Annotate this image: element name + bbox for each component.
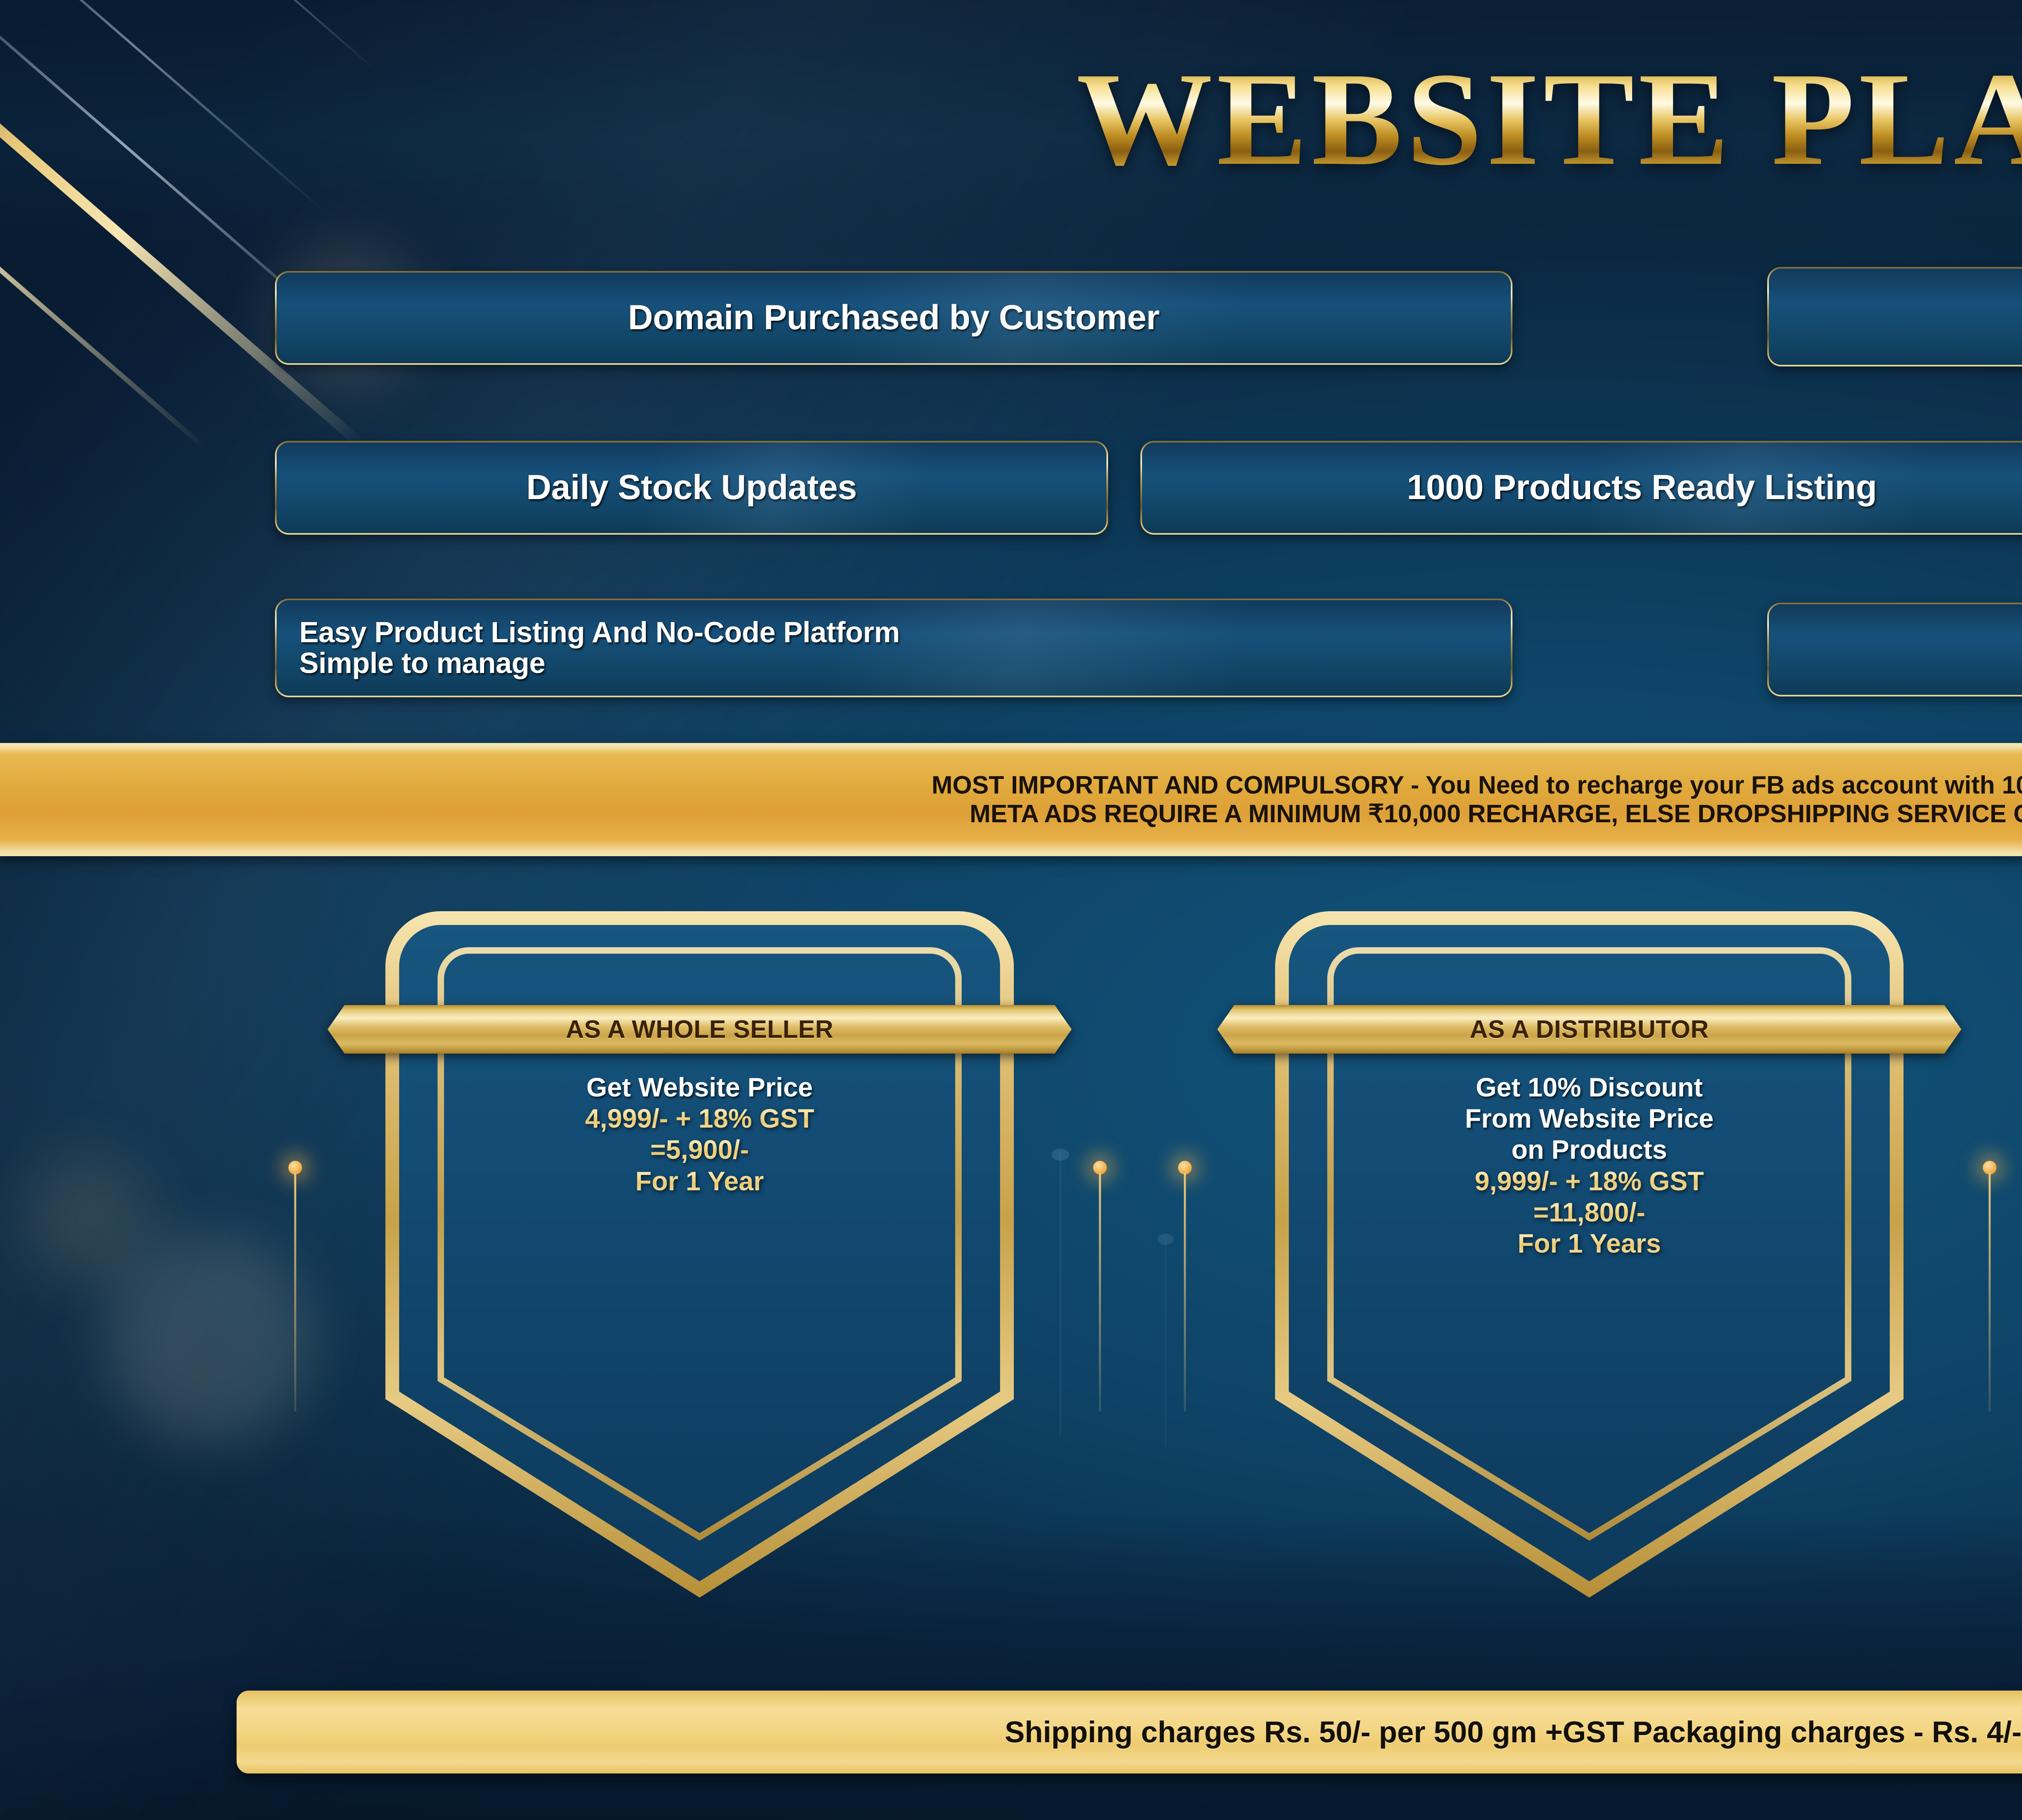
page-title: WEBSITE PLAN (1077, 53, 2022, 186)
feature-box-google-ads[interactable]: Google Ads & Meta Pixel Integration (1767, 603, 2022, 696)
plan-price-line: =11,800/- (1262, 1197, 1917, 1228)
notice-line-1: MOST IMPORTANT AND COMPULSORY - You Need… (932, 771, 2022, 799)
plan-card-whole-seller[interactable]: AS A WHOLE SELLER Get Website Price 4,99… (340, 902, 1060, 1614)
plan-headline-line: Get Website Price (372, 1072, 1027, 1103)
notice-line-1-strong: MOST IMPORTANT AND COMPULSORY - (932, 771, 1419, 799)
plan-body: Get 10% Discount From Website Price on P… (1262, 1072, 1917, 1259)
footer-banner: Shipping charges Rs. 50/- per 500 gm +GS… (237, 1691, 2022, 1773)
plan-ribbon: AS A DISTRIBUTOR (1217, 1005, 1961, 1054)
feature-box-ready-listing[interactable]: 1000 Products Ready Listing (1140, 441, 2022, 535)
notice-line-1-rest: You Need to recharge your FB ads account… (1419, 771, 2022, 799)
plan-headline-line: on Products (1262, 1134, 1917, 1165)
page-title-wrapper: WEBSITE PLAN (0, 53, 2022, 186)
plan-price-line: For 1 Year (372, 1166, 1027, 1197)
plan-ribbon-label: AS A DISTRIBUTOR (1470, 1015, 1709, 1044)
plan-price-line: 9,999/- + 18% GST (1262, 1166, 1917, 1197)
plan-price-line: 4,999/- + 18% GST (372, 1103, 1027, 1134)
notice-line-2: META ADS REQUIRE A MINIMUM ₹10,000 RECHA… (970, 800, 2022, 828)
feature-box-easy-listing[interactable]: Easy Product Listing And No-Code Platfor… (275, 599, 1512, 697)
feature-label: 1000 Products Ready Listing (1407, 469, 1877, 506)
feature-label: Easy Product Listing And No-Code Platfor… (277, 617, 900, 679)
feature-box-domain[interactable]: Domain Purchased by Customer (275, 271, 1512, 365)
plan-headline-line: Get 10% Discount (1262, 1072, 1917, 1103)
plan-ribbon-label: AS A WHOLE SELLER (566, 1015, 833, 1044)
plan-price-line: For 1 Years (1262, 1228, 1917, 1259)
feature-label: Domain Purchased by Customer (628, 299, 1160, 336)
feature-box-daily-stock[interactable]: Daily Stock Updates (275, 441, 1108, 535)
plan-price-line: =5,900/- (372, 1134, 1027, 1165)
feature-box-order-panel[interactable]: Order Management Panel No Monthly Hostin… (1767, 267, 2022, 366)
plan-ribbon: AS A WHOLE SELLER (328, 1005, 1072, 1054)
footer-banner-label: Shipping charges Rs. 50/- per 500 gm +GS… (1005, 1715, 2022, 1749)
plan-body: Get Website Price 4,999/- + 18% GST =5,9… (372, 1072, 1027, 1197)
plan-card-distributor[interactable]: AS A DISTRIBUTOR Get 10% Discount From W… (1229, 902, 1949, 1614)
plan-headline-line: From Website Price (1262, 1103, 1917, 1134)
feature-label: Daily Stock Updates (526, 469, 857, 506)
notice-banner: MOST IMPORTANT AND COMPULSORY - You Need… (0, 743, 2022, 856)
